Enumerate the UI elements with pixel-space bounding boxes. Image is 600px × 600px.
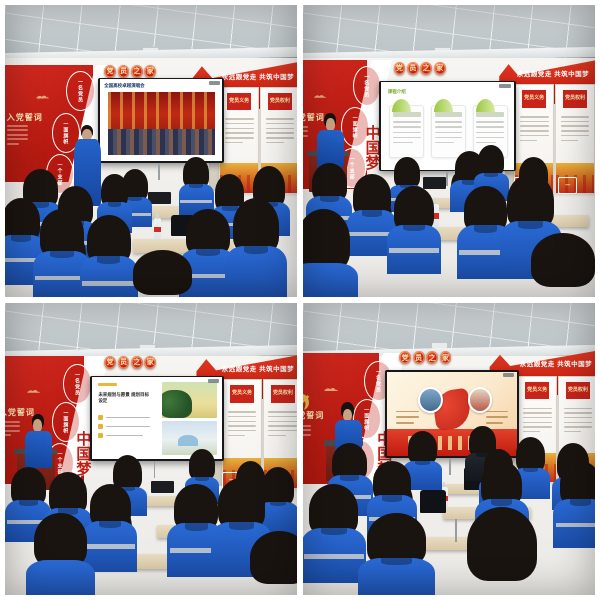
- audience-member: [467, 507, 537, 595]
- audience-member: [34, 513, 87, 595]
- audience-member: [183, 157, 209, 215]
- audience-member: [90, 484, 131, 572]
- classroom-scene: 入党誓词 一名党员 一面旗帜 一个支部 中国梦 党 员 之 家 永远跟党走 共筑…: [303, 303, 595, 595]
- audience-member: [394, 186, 435, 274]
- audience-member: [233, 198, 280, 297]
- audience-member: [531, 233, 595, 297]
- collage-photo-bottom-right: 入党誓词 一名党员 一面旗帜 一个支部 中国梦 党 员 之 家 永远跟党走 共筑…: [303, 303, 595, 595]
- audience-member: [309, 484, 359, 583]
- audience-member: [303, 209, 350, 297]
- audience-member: [186, 209, 230, 297]
- audience-member: [408, 431, 437, 489]
- audience-member: [133, 250, 191, 297]
- audience: [5, 5, 297, 297]
- audience-member: [87, 215, 131, 297]
- audience-member: [250, 531, 297, 595]
- photo-collage: 入党誓词 一名党员 一面旗帜 一个支部 中国梦 党 员 之 家 永远跟党走 共筑…: [0, 0, 600, 600]
- classroom-scene: 入党誓词 一名党员 一面旗帜 一个支部 中国梦 党 员 之 家 永远跟党走 共筑…: [5, 5, 297, 297]
- audience-member: [40, 209, 84, 297]
- collage-photo-bottom-left: 入党誓词 一名党员 一面旗帜 一个支部 中国梦 党 员 之 家 永远跟党走 共筑…: [5, 303, 297, 595]
- audience-member: [367, 513, 425, 595]
- collage-photo-top-right: 入党誓词 一名党员 一面旗帜 一个支部 中国梦 党 员 之 家 永远跟党走 共筑…: [303, 5, 595, 297]
- audience-member: [560, 461, 595, 549]
- classroom-scene: 入党誓词 一名党员 一面旗帜 一个支部 中国梦 党 员 之 家 永远跟党走 共筑…: [5, 303, 297, 595]
- audience: [5, 303, 297, 595]
- audience: [303, 303, 595, 595]
- classroom-scene: 入党誓词 一名党员 一面旗帜 一个支部 中国梦 党 员 之 家 永远跟党走 共筑…: [303, 5, 595, 297]
- audience-member: [353, 174, 391, 256]
- collage-photo-top-left: 入党誓词 一名党员 一面旗帜 一个支部 中国梦 党 员 之 家 永远跟党走 共筑…: [5, 5, 297, 297]
- audience: [303, 5, 595, 297]
